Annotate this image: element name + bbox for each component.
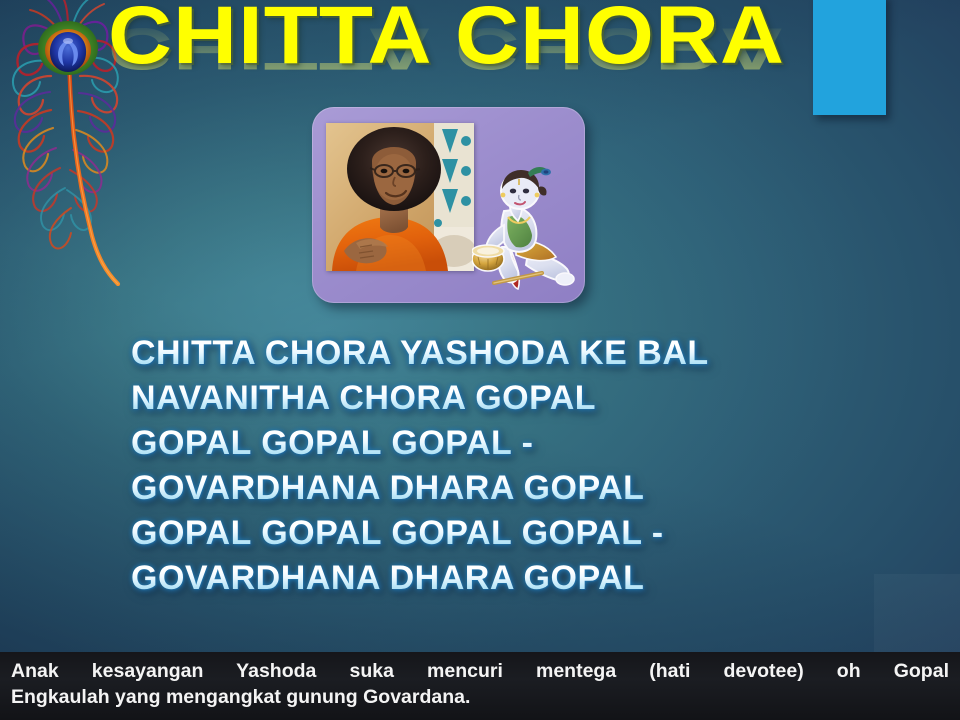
peacock-feather-icon xyxy=(0,0,144,286)
image-frame-inner xyxy=(312,107,585,303)
lyric-line: NAVANITHA CHORA GOPAL xyxy=(131,376,921,421)
slide-canvas: CHITTA CHORA CHITTA CHORA xyxy=(0,0,960,720)
lyric-line: GOPAL GOPAL GOPAL GOPAL - xyxy=(131,511,921,556)
lyrics-block: CHITTA CHORA YASHODA KE BAL NAVANITHA CH… xyxy=(131,331,921,601)
caption-line-1: Anak kesayangan Yashoda suka mencuri men… xyxy=(11,658,949,684)
lyric-line: GOVARDHANA DHARA GOPAL xyxy=(131,556,921,601)
caption-bar: Anak kesayangan Yashoda suka mencuri men… xyxy=(0,652,960,720)
image-frame xyxy=(312,107,585,303)
sathya-sai-baba-photo xyxy=(326,123,474,271)
baby-krishna-with-butter-pot xyxy=(472,167,580,295)
lyric-line: CHITTA CHORA YASHODA KE BAL xyxy=(131,331,921,376)
cyan-accent-block xyxy=(813,0,886,115)
lyric-line: GOVARDHANA DHARA GOPAL xyxy=(131,466,921,511)
caption-text: Anak kesayangan Yashoda suka mencuri men… xyxy=(11,658,949,710)
lyric-line: GOPAL GOPAL GOPAL - xyxy=(131,421,921,466)
caption-line-2: Engkaulah yang mengangkat gunung Govarda… xyxy=(11,684,949,710)
